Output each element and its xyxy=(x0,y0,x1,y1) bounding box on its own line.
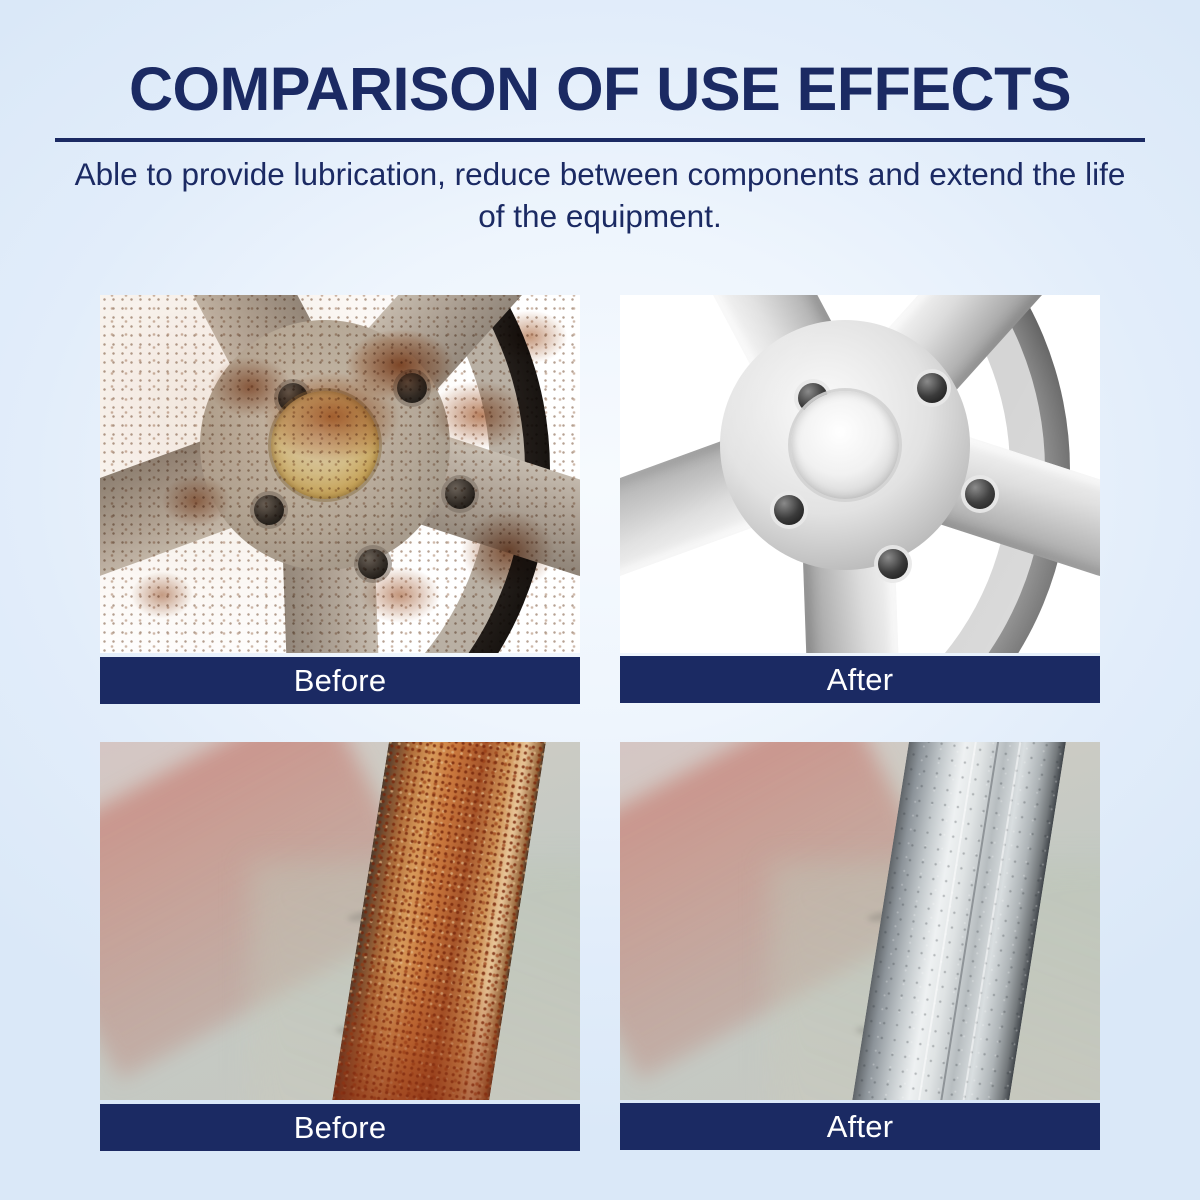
pipe-heavy-rust-zone xyxy=(324,956,508,1100)
photo-clean-pipe xyxy=(620,742,1100,1100)
comparison-grid: Before xyxy=(0,0,1200,1200)
label-after: After xyxy=(620,656,1100,703)
infographic-page: COMPARISON OF USE EFFECTS Able to provid… xyxy=(0,0,1200,1200)
label-before: Before xyxy=(100,657,580,704)
photo-clean-wheel xyxy=(620,295,1100,653)
metal-gloss-overlay xyxy=(620,295,1100,653)
label-before: Before xyxy=(100,1104,580,1151)
comparison-panel-wheel-before: Before xyxy=(100,295,580,704)
rust-speckle-texture xyxy=(100,295,580,653)
photo-rusty-pipe xyxy=(100,742,580,1100)
label-after: After xyxy=(620,1103,1100,1150)
photo-rusty-wheel xyxy=(100,295,580,653)
comparison-panel-pipe-after: After xyxy=(620,742,1100,1150)
comparison-panel-pipe-before: Before xyxy=(100,742,580,1151)
comparison-panel-wheel-after: After xyxy=(620,295,1100,703)
